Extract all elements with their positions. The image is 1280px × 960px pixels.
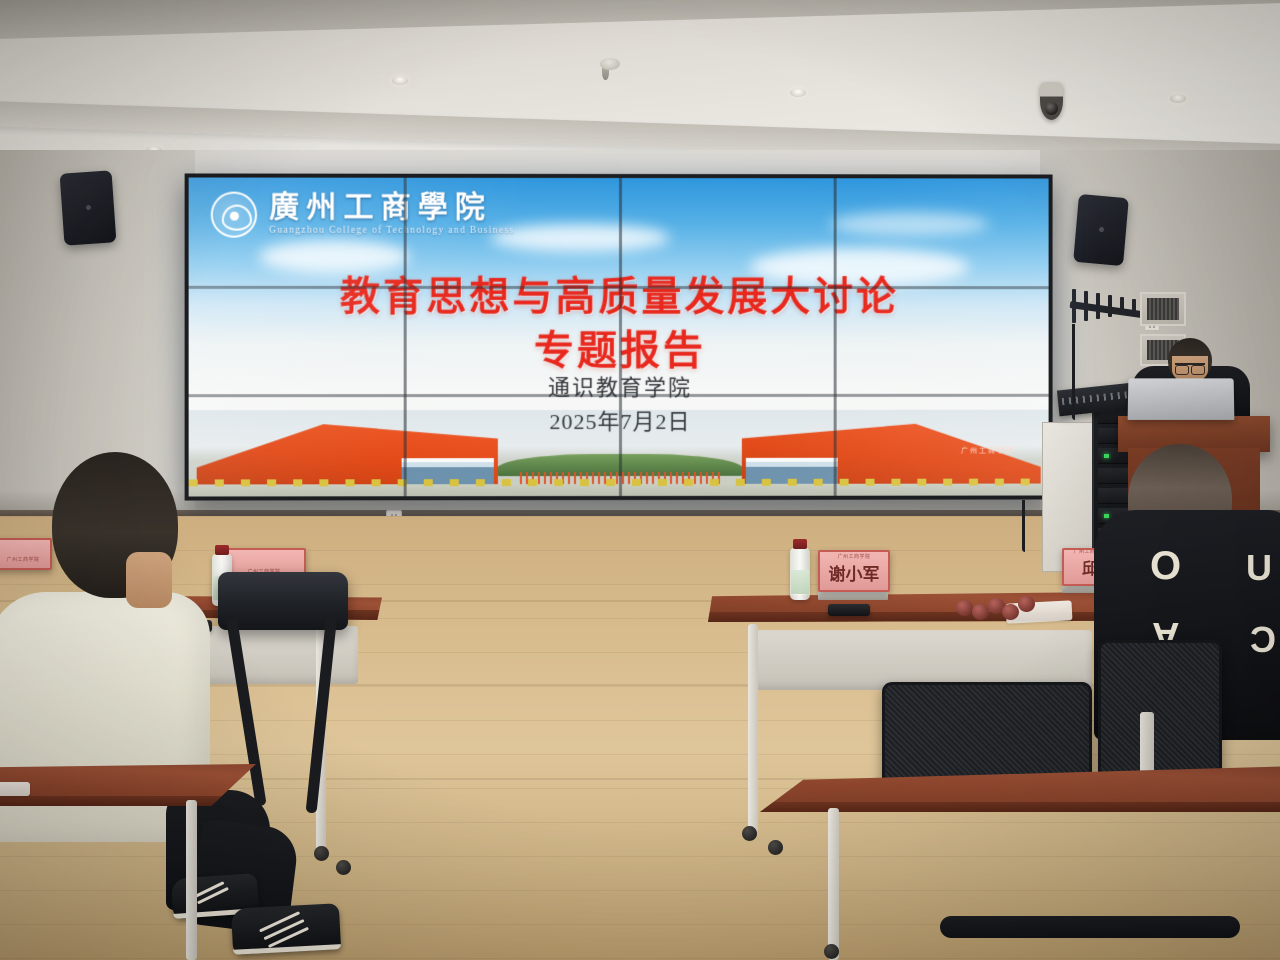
slide-title: 教育思想与高质量发展大讨论 (189, 264, 1049, 322)
table-leg (186, 800, 197, 960)
name-card-xie-xiaojun: 广州工商学院 谢小军 (818, 550, 890, 592)
downlight-icon (392, 76, 408, 85)
ceiling-soffit-upper (0, 0, 1280, 40)
table-caster (314, 846, 329, 861)
name-card-stand (818, 592, 888, 600)
lychee-fruit (1002, 604, 1019, 620)
name-card-far-left: 广州工商学院 (0, 538, 52, 570)
wall-speaker-left (60, 170, 117, 245)
table-caster (768, 840, 783, 855)
lychee-fruit (956, 600, 973, 616)
cable (1022, 500, 1025, 552)
water-bottle (790, 548, 810, 600)
tshirt-letter-u: U (1246, 550, 1272, 586)
presentation-slide: 廣州工商學院 Guangzhou College of Technology a… (189, 177, 1049, 496)
table-caster (742, 826, 757, 841)
table-caster (336, 860, 351, 875)
video-wall[interactable]: 廣州工商學院 Guangzhou College of Technology a… (185, 173, 1053, 500)
table-leg (748, 624, 758, 834)
slide-subtitle: 专题报告 (189, 318, 1049, 376)
wall-vent-panel-upper (1140, 292, 1186, 326)
napkin (0, 782, 30, 796)
security-camera-icon (1040, 82, 1063, 120)
presenter-laptop[interactable] (1128, 378, 1235, 420)
table-modesty-panel (752, 630, 1092, 690)
lychee-fruit (1018, 596, 1035, 612)
slide-organization: 通识教育学院 (189, 370, 1049, 402)
office-chair-back (1098, 640, 1222, 780)
wall-speaker-right (1073, 194, 1129, 266)
conference-room-scene: 廣州工商學院 Guangzhou College of Technology a… (0, 0, 1280, 960)
tshirt-letter-c: C (1250, 622, 1276, 658)
college-name-english: Guangzhou College of Technology and Busi… (269, 227, 514, 237)
downlight-icon (1170, 94, 1186, 103)
tshirt-letter-o: O (1150, 546, 1181, 586)
college-name-chinese: 廣州工商學院 (269, 193, 514, 223)
office-chair-back (882, 682, 1092, 786)
table-caster (824, 944, 839, 959)
college-emblem-icon (211, 192, 257, 238)
table-leg (828, 808, 839, 960)
smartphone[interactable] (828, 604, 870, 616)
cable (1072, 324, 1075, 420)
slide-date: 2025年7月2日 (189, 404, 1049, 437)
cable-bundle (940, 916, 1240, 938)
attendee-neck (126, 552, 172, 608)
table-front-left (0, 764, 256, 806)
slide-logo-block: 廣州工商學院 Guangzhou College of Technology a… (211, 192, 515, 238)
downlight-icon (790, 88, 806, 97)
glasses-icon (1175, 363, 1205, 371)
attendee-shoe (231, 903, 341, 955)
lychee-fruit (972, 604, 989, 620)
smoke-detector-icon (600, 58, 620, 70)
campus-photo-label: 广州工商学院 (961, 446, 1015, 456)
